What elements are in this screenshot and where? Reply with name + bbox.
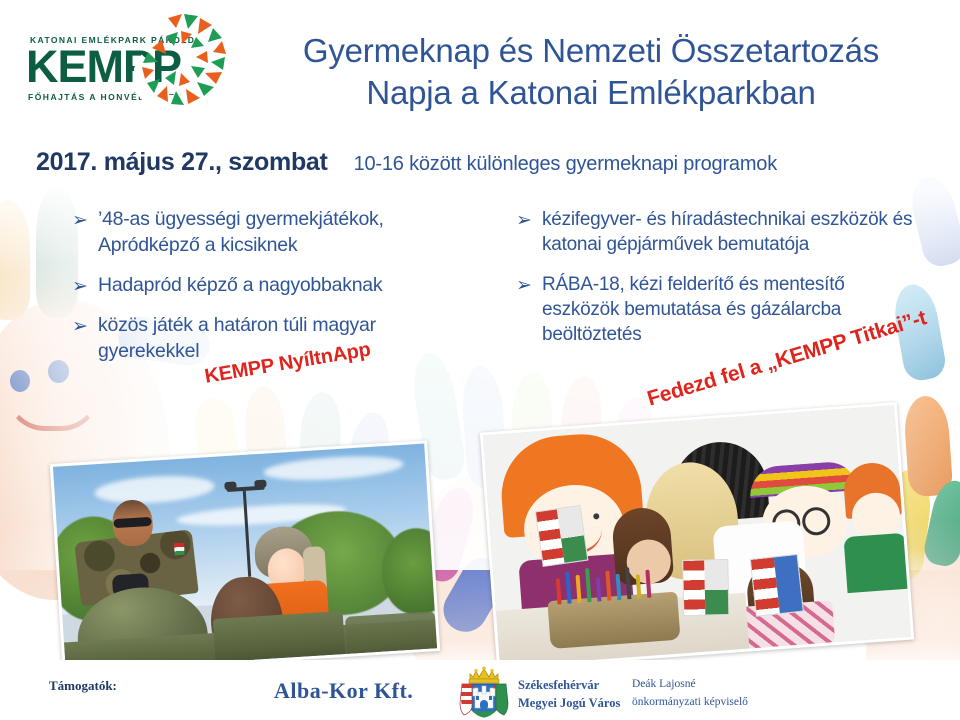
kempp-logo: KATONAI EMLÉKPARK PÁKOZD KEMPP FŐHAJTÁS …	[14, 8, 229, 116]
bullet-arrow-icon: ➢	[516, 207, 542, 258]
page-title-line-2: Napja a Katonai Emlékparkban	[232, 72, 950, 114]
hungarian-flag-craft	[750, 554, 804, 617]
representative-line-2: önkormányzati képviselő	[632, 694, 748, 712]
event-date: 2017. május 27., szombat	[36, 148, 328, 177]
szekesfehervar-coat-of-arms-icon	[458, 666, 510, 718]
supporters-label: Támogatók:	[49, 678, 117, 694]
representative-name: Deák Lajosné önkormányzati képviselő	[632, 676, 748, 712]
hungarian-flag-craft	[682, 559, 729, 616]
sponsor-alba-kor: Alba-Kor Kft.	[274, 678, 413, 704]
bullet-arrow-icon: ➢	[72, 313, 98, 365]
event-date-row: 2017. május 27., szombat 10-16 között kü…	[36, 148, 936, 177]
photo-children-crafting-hungarian-flags	[480, 402, 914, 670]
program-item: ➢ Hadapród képző a nagyobbaknak	[72, 273, 482, 299]
mural-kid-green-shirt	[843, 533, 909, 593]
program-item: ➢ kézifegyver- és híradástechnikai eszkö…	[516, 207, 926, 258]
program-item-text: Hadapród képző a nagyobbaknak	[98, 273, 382, 299]
hungarian-flag-patch	[174, 543, 185, 556]
program-item-text: kézifegyver- és híradástechnikai eszközö…	[542, 207, 926, 258]
bullet-arrow-icon: ➢	[72, 207, 98, 259]
flag-mound	[704, 560, 728, 614]
program-item: ➢ ’48-as ügyességi gyermekjátékok, Apród…	[72, 207, 482, 259]
bullet-arrow-icon: ➢	[72, 273, 98, 299]
hungarian-flag-craft	[535, 505, 589, 567]
lamppost-head	[254, 480, 266, 489]
photo-military-vehicle-with-soldier-and-girl	[50, 440, 441, 674]
lamppost-head	[224, 481, 236, 490]
poster-canvas: KATONAI EMLÉKPARK PÁKOZD KEMPP FŐHAJTÁS …	[0, 0, 960, 720]
program-item-text: ’48-as ügyességi gyermekjátékok, Apródké…	[98, 207, 482, 259]
kempp-swirl-icon	[134, 10, 234, 116]
representative-line-1: Deák Lajosné	[632, 676, 748, 694]
city-sponsor-name: Székesfehérvár Megyei Jogú Város	[518, 676, 620, 712]
flag-blue-field	[774, 555, 803, 613]
city-line-2: Megyei Jogú Város	[518, 694, 620, 712]
page-title-line-1: Gyermeknap és Nemzeti Összetartozás	[232, 30, 950, 72]
city-line-1: Székesfehérvár	[518, 676, 620, 694]
bullet-arrow-icon: ➢	[516, 272, 542, 348]
program-column-right: ➢ kézifegyver- és híradástechnikai eszkö…	[516, 207, 926, 379]
page-title: Gyermeknap és Nemzeti Összetartozás Napj…	[232, 30, 950, 114]
flag-stripes	[683, 561, 705, 615]
event-subtitle: 10-16 között különleges gyermeknapi prog…	[354, 153, 777, 176]
